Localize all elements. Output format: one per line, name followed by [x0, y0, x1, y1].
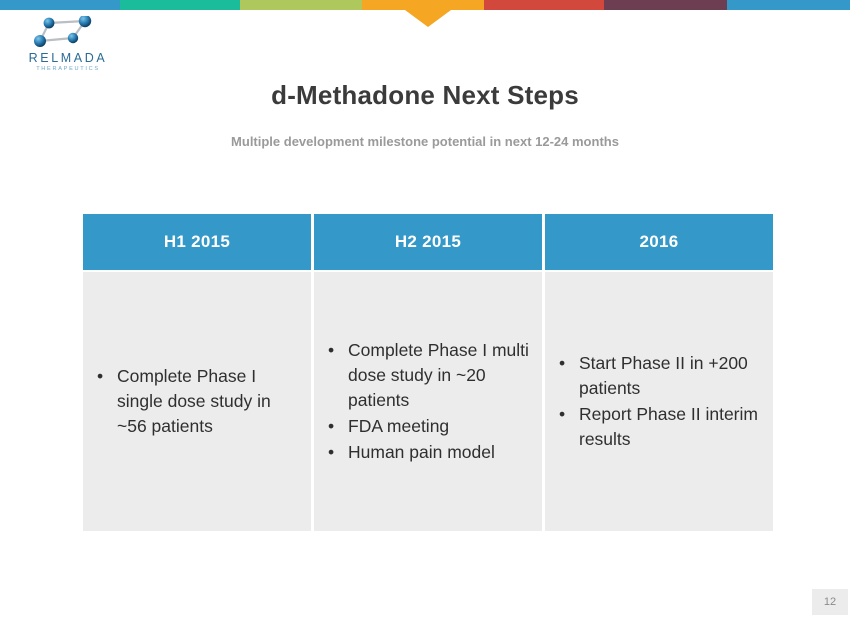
bullet-list: •Start Phase II in +200 patients•Report … — [553, 351, 763, 453]
column-body: •Start Phase II in +200 patients•Report … — [545, 272, 773, 531]
segment-maroon — [604, 0, 727, 10]
bullet-icon: • — [328, 440, 334, 465]
list-item-label: Complete Phase I single dose study in ~5… — [117, 366, 271, 436]
bullet-icon: • — [97, 364, 103, 389]
page-number-badge: 12 — [812, 589, 848, 615]
molecule-icon — [28, 16, 108, 50]
list-item: •Complete Phase I multi dose study in ~2… — [322, 338, 532, 413]
column-header: 2016 — [545, 214, 773, 270]
column-body: •Complete Phase I single dose study in ~… — [83, 272, 311, 531]
column-header: H2 2015 — [314, 214, 542, 270]
list-item: •Report Phase II interim results — [553, 402, 763, 452]
column-header: H1 2015 — [83, 214, 311, 270]
list-item-label: Human pain model — [348, 442, 495, 462]
list-item-label: FDA meeting — [348, 416, 449, 436]
milestones-table: H1 2015•Complete Phase I single dose stu… — [83, 214, 773, 531]
table-column: H2 2015•Complete Phase I multi dose stud… — [314, 214, 542, 531]
down-arrow-marker — [405, 10, 451, 27]
segment-blue-right — [727, 0, 850, 10]
segment-blue — [0, 0, 120, 10]
bullet-icon: • — [328, 414, 334, 439]
table-column: H1 2015•Complete Phase I single dose stu… — [83, 214, 311, 531]
company-logo: RELMADA THERAPEUTICS — [18, 16, 118, 74]
list-item-label: Report Phase II interim results — [579, 404, 758, 449]
bullet-icon: • — [559, 402, 565, 427]
column-body: •Complete Phase I multi dose study in ~2… — [314, 272, 542, 531]
segment-olive — [240, 0, 362, 10]
bullet-icon: • — [328, 338, 334, 363]
list-item: •FDA meeting — [322, 414, 532, 439]
page-subtitle: Multiple development milestone potential… — [225, 132, 625, 151]
list-item-label: Start Phase II in +200 patients — [579, 353, 748, 398]
table-column: 2016•Start Phase II in +200 patients•Rep… — [545, 214, 773, 531]
top-color-bar — [0, 0, 850, 10]
logo-tagline: THERAPEUTICS — [18, 66, 118, 72]
bullet-list: •Complete Phase I single dose study in ~… — [91, 364, 301, 440]
bullet-list: •Complete Phase I multi dose study in ~2… — [322, 338, 532, 466]
bullet-icon: • — [559, 351, 565, 376]
logo-wordmark: RELMADA — [18, 51, 118, 65]
list-item: •Start Phase II in +200 patients — [553, 351, 763, 401]
segment-teal — [120, 0, 240, 10]
list-item: •Complete Phase I single dose study in ~… — [91, 364, 301, 439]
list-item-label: Complete Phase I multi dose study in ~20… — [348, 340, 529, 410]
list-item: •Human pain model — [322, 440, 532, 465]
page-title: d-Methadone Next Steps — [0, 80, 850, 111]
segment-orange — [362, 0, 484, 10]
segment-red — [484, 0, 604, 10]
